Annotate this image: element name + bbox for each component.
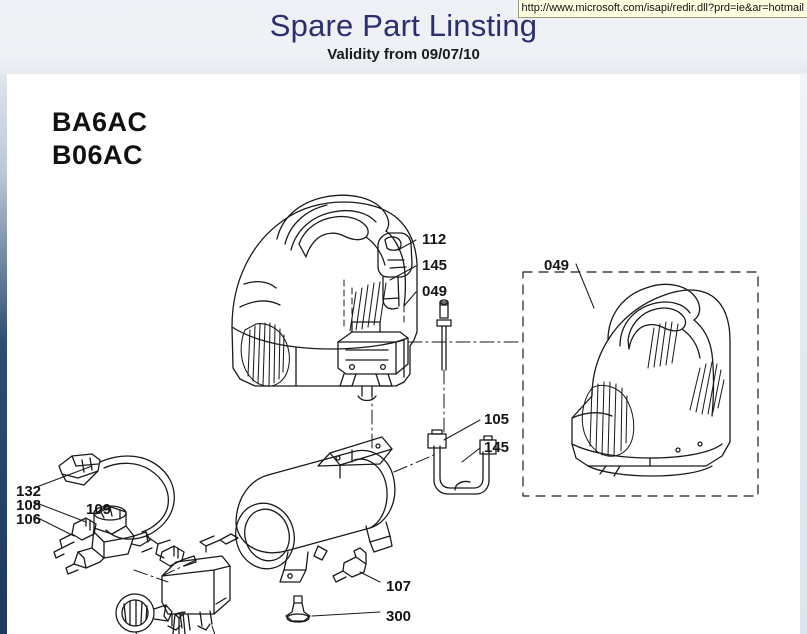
callout-labels: 112 145 049 105 145 132 108 106 109 107 …	[16, 231, 569, 634]
page-subtitle: Validity from 09/07/10	[0, 46, 807, 63]
assembly-guides	[344, 280, 404, 328]
motor-pump-block	[338, 322, 408, 401]
callout-106: 106	[16, 511, 41, 528]
callout-300: 300	[386, 608, 411, 625]
relay-box-part	[162, 556, 230, 630]
spare-part-listing-page: Spare Part Linsting Validity from 09/07/…	[0, 0, 807, 634]
url-status-tooltip: http://www.microsoft.com/isapi/redir.dll…	[518, 0, 807, 18]
callout-107: 107	[386, 578, 411, 595]
callout-145-top: 145	[422, 257, 447, 274]
tank-foot-part	[286, 596, 310, 622]
shroud-bolt-part	[437, 300, 451, 370]
fittings-group	[54, 518, 96, 558]
pressure-gauge-part	[116, 594, 172, 632]
callout-049-top: 049	[422, 283, 447, 300]
compressor-shroud	[232, 195, 417, 400]
leader-lines	[34, 240, 594, 634]
callout-109-regulator: 109	[86, 501, 111, 518]
callout-145-tube: 145	[484, 439, 509, 456]
air-tank-assembly	[200, 437, 395, 622]
callout-049-inset: 049	[544, 257, 569, 274]
exploded-parts-diagram: 112 145 049 105 145 132 108 106 109 107 …	[0, 74, 807, 634]
drain-valve-part	[333, 548, 366, 582]
callout-112-top: 112	[422, 231, 446, 248]
callout-105: 105	[484, 411, 509, 428]
capacitor-part	[173, 612, 185, 634]
inset-cowl-shroud	[572, 284, 730, 476]
